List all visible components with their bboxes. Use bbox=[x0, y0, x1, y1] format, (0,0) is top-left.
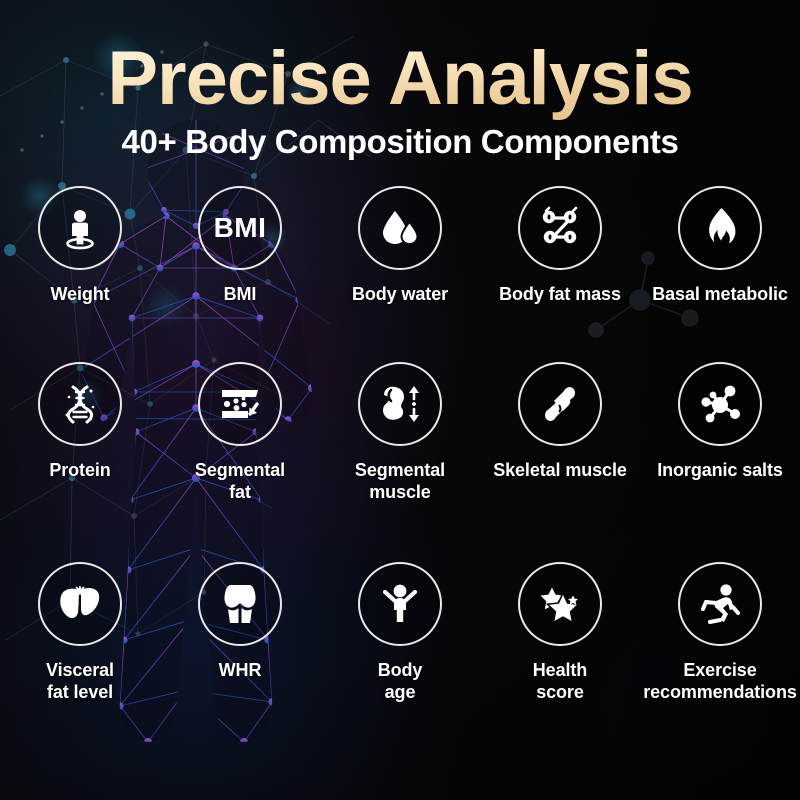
label-line: recommendations bbox=[643, 682, 797, 702]
label-line: Body bbox=[378, 660, 423, 680]
inorganic-salts-icon-circle[interactable] bbox=[678, 362, 762, 446]
component-label: Protein bbox=[1, 459, 159, 481]
page-subtitle: 40+ Body Composition Components bbox=[0, 122, 800, 162]
component-bmi[interactable]: BMI BMI bbox=[160, 186, 320, 362]
component-basal-metabolic[interactable]: Basal metabolic bbox=[640, 186, 800, 362]
health-score-icon-circle[interactable] bbox=[518, 562, 602, 646]
component-label: Health score bbox=[481, 659, 639, 703]
grid-row-2: Protein bbox=[0, 362, 800, 562]
component-label: WHR bbox=[161, 659, 319, 681]
exercise-recommendations-icon-circle[interactable] bbox=[678, 562, 762, 646]
label-line: muscle bbox=[369, 482, 430, 502]
hips-waist-icon bbox=[218, 581, 262, 627]
running-person-icon bbox=[696, 581, 744, 627]
label-line: fat level bbox=[47, 682, 113, 702]
component-label: Body fat mass bbox=[481, 283, 639, 305]
body-fat-mass-icon-circle[interactable] bbox=[518, 186, 602, 270]
label-line: fat bbox=[229, 482, 251, 502]
infographic-root: Precise Analysis 40+ Body Composition Co… bbox=[0, 0, 800, 800]
component-label: Body water bbox=[321, 283, 479, 305]
person-on-scale-icon bbox=[57, 205, 103, 251]
water-drops-icon bbox=[377, 205, 423, 251]
segmental-fat-icon-circle[interactable] bbox=[198, 362, 282, 446]
component-label: Segmental fat bbox=[161, 459, 319, 503]
body-age-icon-circle[interactable] bbox=[358, 562, 442, 646]
component-whr[interactable]: WHR bbox=[160, 562, 320, 752]
visceral-fat-level-icon-circle[interactable] bbox=[38, 562, 122, 646]
label-line: Health bbox=[533, 660, 587, 680]
component-label: Inorganic salts bbox=[641, 459, 799, 481]
skeletal-muscle-icon-circle[interactable] bbox=[518, 362, 602, 446]
label-line: Segmental bbox=[355, 460, 445, 480]
body-water-icon-circle[interactable] bbox=[358, 186, 442, 270]
component-body-fat-mass[interactable]: Body fat mass bbox=[480, 186, 640, 362]
child-figure-icon bbox=[377, 581, 423, 627]
flame-icon bbox=[698, 205, 742, 251]
label-line: Segmental bbox=[195, 460, 285, 480]
component-label: Visceral fat level bbox=[1, 659, 159, 703]
label-line: Exercise bbox=[683, 660, 756, 680]
bmi-icon-circle[interactable]: BMI bbox=[198, 186, 282, 270]
dna-helix-icon bbox=[57, 381, 103, 427]
grid-row-3: Visceral fat level WHR bbox=[0, 562, 800, 752]
components-grid: Weight BMI BMI Body water bbox=[0, 186, 800, 752]
header: Precise Analysis 40+ Body Composition Co… bbox=[0, 36, 800, 162]
component-health-score[interactable]: Health score bbox=[480, 562, 640, 752]
label-line: score bbox=[536, 682, 584, 702]
component-label: Exercise recommendations bbox=[641, 659, 799, 703]
bone-joint-icon bbox=[537, 381, 583, 427]
fat-layers-arrow-icon bbox=[216, 382, 264, 426]
segmental-muscle-icon-circle[interactable] bbox=[358, 362, 442, 446]
component-inorganic-salts[interactable]: Inorganic salts bbox=[640, 362, 800, 562]
component-weight[interactable]: Weight bbox=[0, 186, 160, 362]
component-segmental-muscle[interactable]: Segmental muscle bbox=[320, 362, 480, 562]
label-line: Protein bbox=[49, 460, 110, 480]
label-line: Visceral bbox=[46, 660, 114, 680]
fat-molecule-icon bbox=[536, 204, 584, 252]
component-label: Skeletal muscle bbox=[481, 459, 639, 481]
component-body-water[interactable]: Body water bbox=[320, 186, 480, 362]
component-skeletal-muscle[interactable]: Skeletal muscle bbox=[480, 362, 640, 562]
whr-icon-circle[interactable] bbox=[198, 562, 282, 646]
protein-icon-circle[interactable] bbox=[38, 362, 122, 446]
component-label: Weight bbox=[1, 283, 159, 305]
stars-icon bbox=[537, 582, 583, 626]
component-label: BMI bbox=[161, 283, 319, 305]
liver-icon bbox=[56, 583, 104, 625]
bicep-measure-icon bbox=[376, 382, 424, 426]
component-label: Body age bbox=[321, 659, 479, 703]
basal-metabolic-icon-circle[interactable] bbox=[678, 186, 762, 270]
page-title: Precise Analysis bbox=[0, 36, 800, 122]
bmi-text-icon: BMI bbox=[214, 214, 267, 242]
component-segmental-fat[interactable]: Segmental fat bbox=[160, 362, 320, 562]
label-line: age bbox=[385, 682, 416, 702]
component-label: Basal metabolic bbox=[641, 283, 799, 305]
weight-icon-circle[interactable] bbox=[38, 186, 122, 270]
component-protein[interactable]: Protein bbox=[0, 362, 160, 562]
component-visceral-fat-level[interactable]: Visceral fat level bbox=[0, 562, 160, 752]
grid-row-1: Weight BMI BMI Body water bbox=[0, 186, 800, 362]
molecule-icon bbox=[696, 381, 744, 427]
component-exercise-recommendations[interactable]: Exercise recommendations bbox=[640, 562, 800, 752]
component-body-age[interactable]: Body age bbox=[320, 562, 480, 752]
component-label: Segmental muscle bbox=[321, 459, 479, 503]
